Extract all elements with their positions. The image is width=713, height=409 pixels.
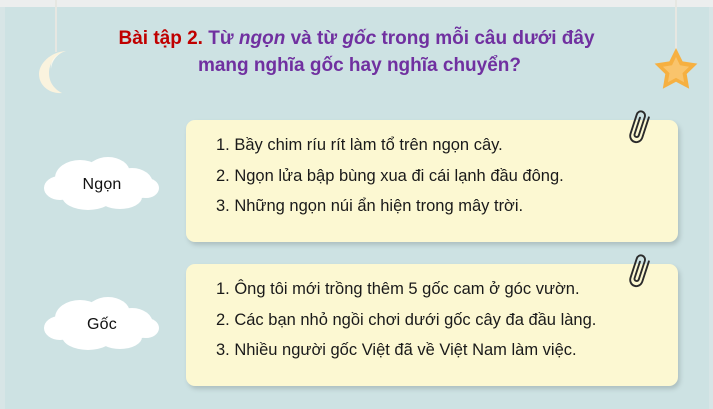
title-keyword-goc: gốc xyxy=(342,28,376,49)
sentence-item: 2. Các bạn nhỏ ngồi chơi dưới gốc cây đa… xyxy=(216,312,656,329)
title-text-b: và từ xyxy=(285,28,342,49)
exercise-number: Bài tập 2. xyxy=(118,28,202,49)
title-line-1: Bài tập 2. Từ ngọn và từ gốc trong mỗi c… xyxy=(0,26,713,53)
sentence-item: 3. Nhiều người gốc Việt đã về Việt Nam l… xyxy=(216,342,656,359)
title-text-c: trong mỗi câu dưới đây xyxy=(376,28,594,49)
cloud-label-text-ngon: Ngọn xyxy=(42,154,162,216)
title-text-a: Từ xyxy=(203,28,239,49)
sentence-box-goc: 1. Ông tôi mới trồng thêm 5 gốc cam ở gó… xyxy=(186,264,678,386)
slide-canvas: Bài tập 2. Từ ngọn và từ gốc trong mỗi c… xyxy=(0,0,713,409)
exercise-title: Bài tập 2. Từ ngọn và từ gốc trong mỗi c… xyxy=(0,26,713,80)
sentence-item: 1. Ông tôi mới trồng thêm 5 gốc cam ở gó… xyxy=(216,281,656,298)
title-line-2: mang nghĩa gốc hay nghĩa chuyển? xyxy=(0,53,713,80)
sentence-item: 1. Bầy chim ríu rít làm tổ trên ngọn cây… xyxy=(216,137,656,154)
sentence-item: 3. Những ngọn núi ẩn hiện trong mây trời… xyxy=(216,198,656,215)
sentence-item: 2. Ngọn lửa bập bùng xua đi cái lạnh đầu… xyxy=(216,168,656,185)
title-keyword-ngon: ngọn xyxy=(239,28,285,49)
top-strip xyxy=(0,0,713,7)
paperclip-icon xyxy=(628,252,654,292)
cloud-label-ngon: Ngọn xyxy=(42,154,162,216)
cloud-label-text-goc: Gốc xyxy=(42,294,162,356)
cloud-label-goc: Gốc xyxy=(42,294,162,356)
sentence-box-ngon: 1. Bầy chim ríu rít làm tổ trên ngọn cây… xyxy=(186,120,678,242)
paperclip-icon xyxy=(628,108,654,148)
